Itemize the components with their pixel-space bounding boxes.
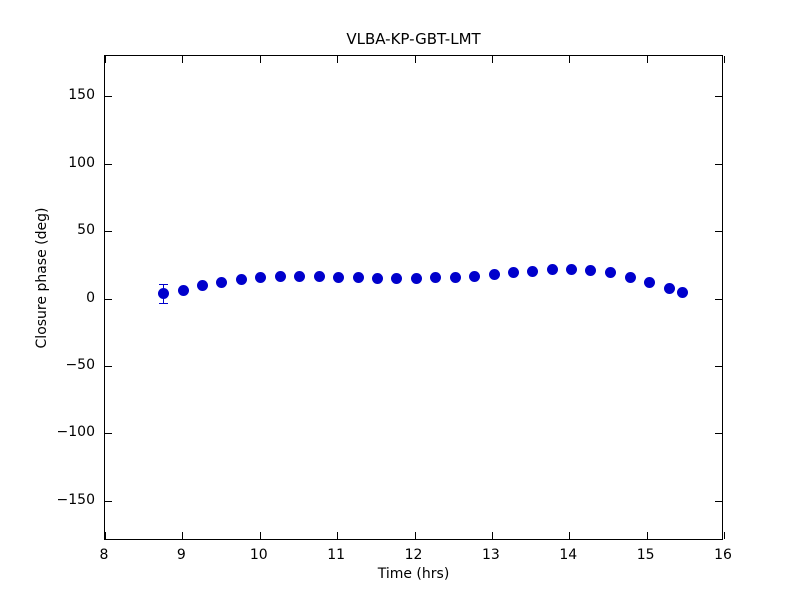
data-point <box>508 267 519 278</box>
y-tick <box>105 231 112 232</box>
data-point <box>333 272 344 283</box>
y-tick-right <box>715 366 722 367</box>
x-axis-label: Time (hrs) <box>104 566 723 582</box>
data-point <box>625 272 636 283</box>
x-tick-top <box>724 56 725 63</box>
data-point <box>450 272 461 283</box>
y-tick-label: 150 <box>35 88 95 102</box>
data-point <box>547 264 558 275</box>
y-tick <box>105 164 112 165</box>
y-tick-right <box>715 501 722 502</box>
data-point <box>585 265 596 276</box>
data-point <box>411 273 422 284</box>
x-tick-top <box>415 56 416 63</box>
x-tick-top <box>337 56 338 63</box>
x-tick-top <box>260 56 261 63</box>
y-tick-right <box>715 164 722 165</box>
y-tick <box>105 366 112 367</box>
x-tick-label: 10 <box>229 548 289 562</box>
y-tick <box>105 433 112 434</box>
x-tick <box>724 532 725 539</box>
y-tick-label: −150 <box>35 493 95 507</box>
x-tick-label: 11 <box>306 548 366 562</box>
data-point <box>430 272 441 283</box>
data-point <box>677 287 688 298</box>
figure-canvas: VLBA-KP-GBT-LMT −150−100−50050100150 891… <box>0 0 800 600</box>
data-point <box>605 267 616 278</box>
x-tick-top <box>647 56 648 63</box>
data-point <box>527 266 538 277</box>
x-tick <box>337 532 338 539</box>
x-tick-label: 16 <box>693 548 753 562</box>
x-tick <box>415 532 416 539</box>
x-tick-top <box>105 56 106 63</box>
data-point <box>275 271 286 282</box>
y-tick-label: −100 <box>35 425 95 439</box>
data-point <box>255 272 266 283</box>
x-tick <box>105 532 106 539</box>
plot-axes <box>104 55 723 540</box>
data-point <box>353 272 364 283</box>
y-tick-right <box>715 433 722 434</box>
x-tick-label: 8 <box>74 548 134 562</box>
chart-title: VLBA-KP-GBT-LMT <box>104 30 723 48</box>
data-point <box>644 277 655 288</box>
data-point <box>566 264 577 275</box>
data-point <box>664 283 675 294</box>
data-point <box>236 274 247 285</box>
y-tick-right <box>715 231 722 232</box>
x-tick-label: 12 <box>384 548 444 562</box>
data-point <box>391 273 402 284</box>
x-tick-top <box>569 56 570 63</box>
x-tick <box>569 532 570 539</box>
x-tick-top <box>492 56 493 63</box>
data-point <box>197 280 208 291</box>
x-tick <box>260 532 261 539</box>
plot-data-area <box>105 56 722 539</box>
data-point <box>469 271 480 282</box>
x-tick-top <box>182 56 183 63</box>
x-tick-label: 15 <box>616 548 676 562</box>
error-bar-cap <box>159 303 168 304</box>
y-tick-right <box>715 96 722 97</box>
data-point <box>372 273 383 284</box>
data-point <box>489 269 500 280</box>
x-tick <box>182 532 183 539</box>
error-bar-cap <box>159 284 168 285</box>
y-tick-right <box>715 299 722 300</box>
x-tick <box>492 532 493 539</box>
y-axis-label: Closure phase (deg) <box>34 158 50 398</box>
x-tick-label: 14 <box>538 548 598 562</box>
data-point <box>294 271 305 282</box>
data-point <box>158 288 169 299</box>
x-tick-label: 13 <box>461 548 521 562</box>
y-tick <box>105 501 112 502</box>
x-tick-label: 9 <box>151 548 211 562</box>
y-tick <box>105 96 112 97</box>
x-tick <box>647 532 648 539</box>
data-point <box>314 271 325 282</box>
data-point <box>178 285 189 296</box>
y-tick <box>105 299 112 300</box>
data-point <box>216 277 227 288</box>
